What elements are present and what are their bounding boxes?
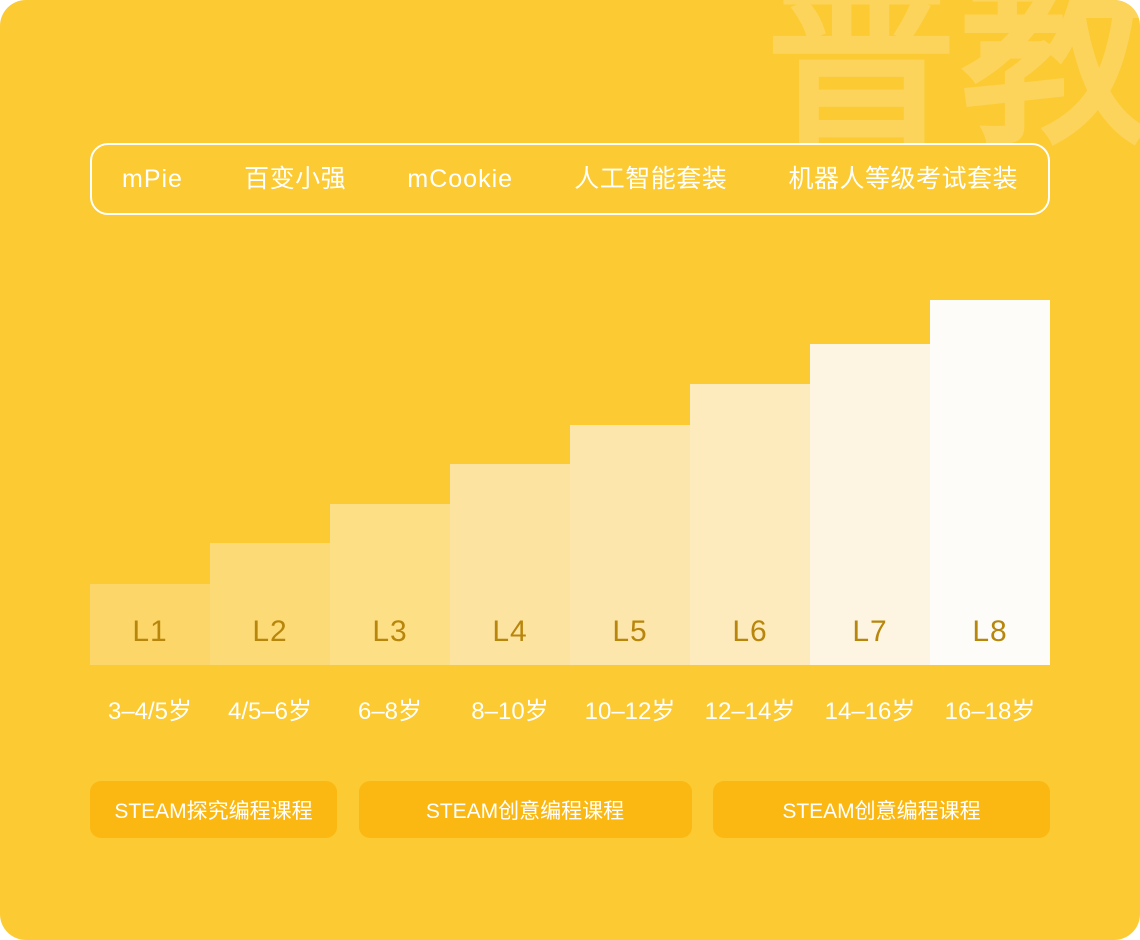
product-item-baibianxiaoqiang[interactable]: 百变小强: [244, 167, 346, 192]
age-range-l3: 6–8岁: [330, 700, 450, 724]
course-button-explore[interactable]: STEAM探究编程课程: [90, 781, 337, 838]
bar-l4: L4: [450, 464, 570, 665]
age-range-l1: 3–4/5岁: [90, 700, 210, 724]
course-button-creative-2[interactable]: STEAM创意编程课程: [713, 781, 1050, 838]
bar-group: L1 L2 L3 L4 L5 L6 L7 L8: [90, 285, 1050, 665]
age-range-l2: 4/5–6岁: [210, 700, 330, 724]
product-item-ai-kit[interactable]: 人工智能套装: [574, 167, 727, 192]
bar-label-l4: L4: [450, 617, 570, 647]
watermark-text: 普教: [766, 0, 1140, 156]
bar-label-l5: L5: [570, 617, 690, 647]
product-item-robot-exam-kit[interactable]: 机器人等级考试套装: [788, 167, 1018, 192]
bar-l5: L5: [570, 425, 690, 665]
age-range-row: 3–4/5岁 4/5–6岁 6–8岁 8–10岁 10–12岁 12–14岁 1…: [90, 700, 1050, 724]
bar-label-l7: L7: [810, 617, 930, 647]
bar-label-l8: L8: [930, 617, 1050, 647]
age-range-l5: 10–12岁: [570, 700, 690, 724]
bar-l8: L8: [930, 300, 1050, 665]
age-range-l6: 12–14岁: [690, 700, 810, 724]
bar-l7: L7: [810, 344, 930, 665]
bar-l1: L1: [90, 584, 210, 665]
bar-label-l2: L2: [210, 617, 330, 647]
course-button-row: STEAM探究编程课程 STEAM创意编程课程 STEAM创意编程课程: [90, 781, 1050, 838]
bar-label-l6: L6: [690, 617, 810, 647]
product-item-mpie[interactable]: mPie: [122, 167, 183, 192]
bar-l6: L6: [690, 384, 810, 665]
bar-label-l3: L3: [330, 617, 450, 647]
product-item-mcookie[interactable]: mCookie: [407, 167, 513, 192]
age-range-l8: 16–18岁: [930, 700, 1050, 724]
bar-l3: L3: [330, 504, 450, 665]
course-button-creative-1[interactable]: STEAM创意编程课程: [359, 781, 692, 838]
course-level-card: 普教 mPie 百变小强 mCookie 人工智能套装 机器人等级考试套装 L1…: [0, 0, 1140, 940]
product-pill: mPie 百变小强 mCookie 人工智能套装 机器人等级考试套装: [90, 143, 1050, 215]
age-range-l7: 14–16岁: [810, 700, 930, 724]
age-range-l4: 8–10岁: [450, 700, 570, 724]
bar-label-l1: L1: [90, 617, 210, 647]
level-bar-chart: L1 L2 L3 L4 L5 L6 L7 L8: [90, 285, 1050, 665]
bar-l2: L2: [210, 543, 330, 665]
